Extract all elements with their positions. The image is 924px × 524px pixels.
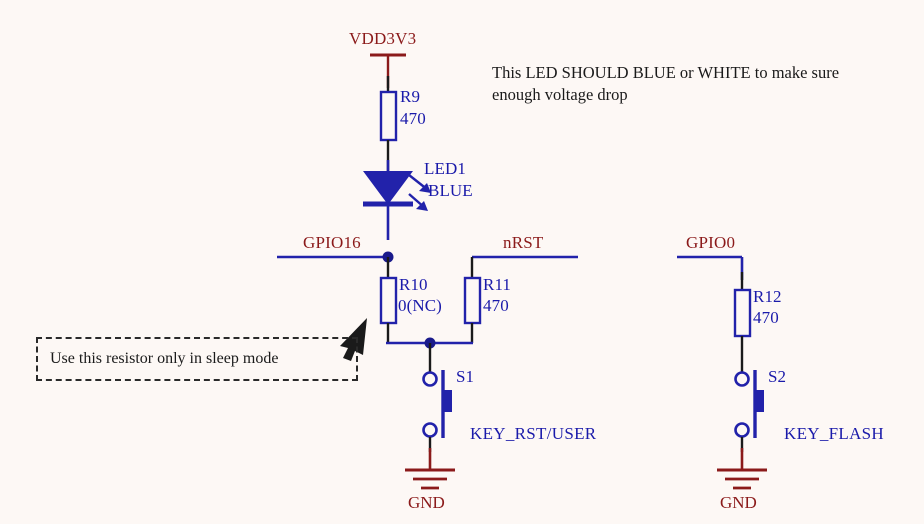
led-note-line-2: enough voltage drop (492, 84, 628, 106)
gnd-symbol-left (405, 448, 455, 488)
net-label-gnd-right: GND (720, 494, 757, 511)
resistor-r11-symbol (465, 278, 480, 323)
component-ref-s2: S2 (768, 368, 786, 385)
switch-s1-symbol[interactable] (424, 370, 453, 452)
schematic-canvas: VDD3V3 R9 470 LED1 BLUE This LED SHOULD … (0, 0, 924, 524)
led1-symbol (363, 160, 431, 240)
net-label-nrst: nRST (503, 234, 543, 251)
component-value-led1: BLUE (428, 182, 473, 199)
component-value-r12: 470 (753, 309, 779, 326)
net-label-gpio0: GPIO0 (686, 234, 735, 251)
component-ref-r9: R9 (400, 88, 420, 105)
led-note-line-1: This LED SHOULD BLUE or WHITE to make su… (492, 62, 839, 84)
callout-label: Use this resistor only in sleep mode (50, 350, 278, 368)
component-ref-r10: R10 (399, 276, 428, 293)
net-label-gpio16: GPIO16 (303, 234, 361, 251)
resistor-r9-symbol (381, 92, 396, 140)
component-value-r9: 470 (400, 110, 426, 127)
net-label-vdd3v3: VDD3V3 (349, 30, 416, 47)
component-ref-s1: S1 (456, 368, 474, 385)
component-value-r10: 0(NC) (398, 297, 442, 314)
switch-s2-name: KEY_FLASH (784, 425, 884, 442)
component-ref-r11: R11 (483, 276, 511, 293)
gnd-symbol-right (717, 448, 767, 488)
resistor-r10-symbol (381, 278, 396, 323)
net-label-gnd-left: GND (408, 494, 445, 511)
switch-s2-symbol[interactable] (736, 370, 765, 452)
switch-s1-name: KEY_RST/USER (470, 425, 596, 442)
component-ref-r12: R12 (753, 288, 782, 305)
resistor-r12-symbol (735, 290, 750, 336)
component-value-r11: 470 (483, 297, 509, 314)
component-ref-led1: LED1 (424, 160, 466, 177)
